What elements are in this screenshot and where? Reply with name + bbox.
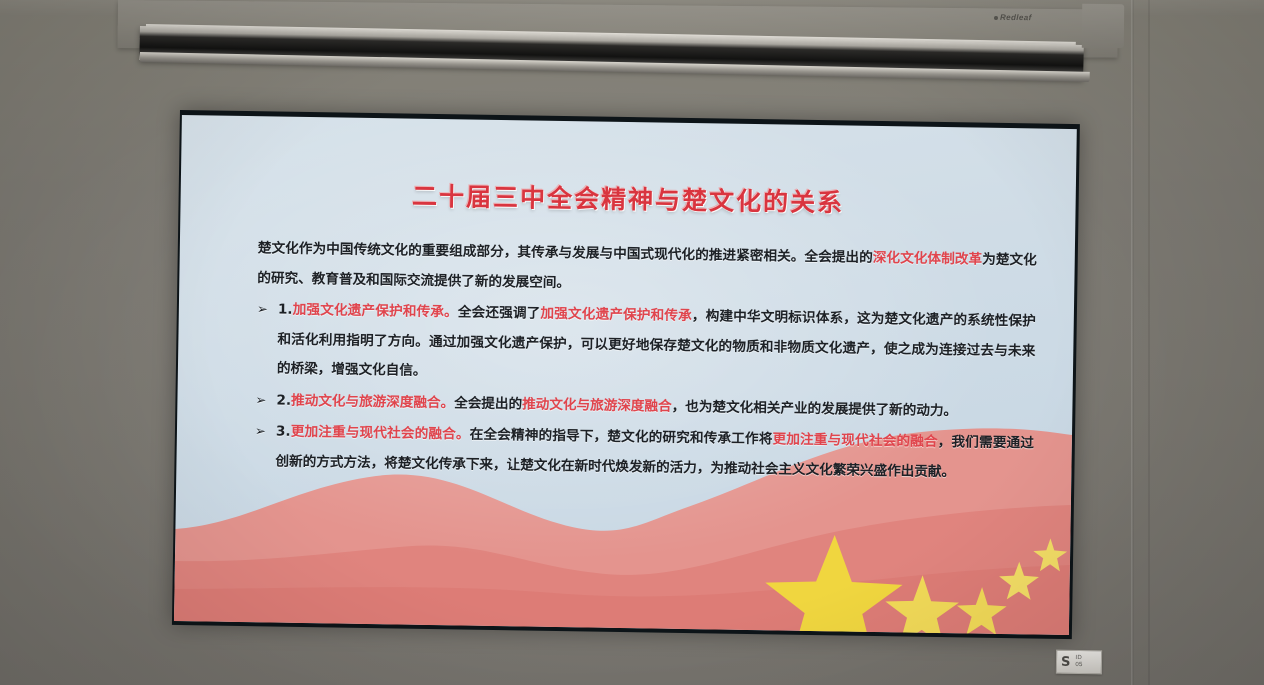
wall-label-plate: S ID 05 [1056,650,1102,675]
brand-dot-icon [994,16,998,20]
plate-logo-icon: S [1061,655,1071,668]
wall-corner-seam-secondary [1148,0,1150,685]
intro-paragraph: 楚文化作为中国传统文化的重要组成部分，其传承与发展与中国式现代化的推进紧密相关。… [257,234,1037,305]
bullet-2-segment-2: ，也为楚文化相关产业的发展提供了新的动力。 [672,398,958,418]
arrow-bullet-icon: ➢ [254,417,276,476]
bullet-2-segment-1: 全会提出的 [454,395,522,412]
plate-code-line1: ID [1075,655,1082,661]
bullet-1-text: 1.加强文化遗产保护和传承。全会还强调了加强文化遗产保护和传承，构建中华文明标识… [277,296,1036,396]
bullet-1-heading: 加强文化遗产保护和传承。 [292,302,458,321]
bullet-1-segment-1: 全会还强调了 [458,304,541,321]
presentation-slide: 二十届三中全会精神与楚文化的关系 楚文化作为中国传统文化的重要组成部分，其传承与… [174,115,1077,635]
arrow-bullet-icon: ➢ [255,386,276,416]
plate-code-line2: 05 [1075,662,1082,668]
arrow-bullet-icon: ➢ [256,295,278,384]
projector-screen-end-cap [1082,4,1124,48]
bullet-3-segment-1: 在全会精神的指导下，楚文化的研究和传承工作将 [470,427,773,448]
intro-segment-1: 楚文化作为中国传统文化的重要组成部分，其传承与发展与中国式现代化的推进紧密相关。… [258,240,873,266]
bullet-3-heading: 更加注重与现代社会的融合。 [290,424,469,443]
bullet-1-highlight: 加强文化遗产保护和传承 [540,306,692,324]
list-item: ➢ 1.加强文化遗产保护和传承。全会还强调了加强文化遗产保护和传承，构建中华文明… [256,295,1036,396]
bullet-2-highlight: 推动文化与旅游深度融合 [522,396,672,414]
wall-corner-seam [1131,0,1134,685]
slide-body: 楚文化作为中国传统文化的重要组成部分，其传承与发展与中国式现代化的推进紧密相关。… [254,234,1037,488]
intro-highlight: 深化文化体制改革 [873,250,983,268]
bullet-2-index: 2. [276,392,291,408]
bullet-1-index: 1. [278,302,293,318]
bullet-3-index: 3. [276,424,291,440]
projected-slide-area: 二十届三中全会精神与楚文化的关系 楚文化作为中国传统文化的重要组成部分，其传承与… [172,110,1080,639]
bullet-2-heading: 推动文化与旅游深度融合。 [291,392,454,411]
projector-brand-label: Redleaf [1000,13,1032,22]
list-item: ➢ 3.更加注重与现代社会的融合。在全会精神的指导下，楚文化的研究和传承工作将更… [254,417,1034,488]
bullet-3-text: 3.更加注重与现代社会的融合。在全会精神的指导下，楚文化的研究和传承工作将更加注… [275,418,1034,489]
slide-title: 二十届三中全会精神与楚文化的关系 [180,173,1075,223]
bullet-3-highlight: 更加注重与现代社会的融合 [772,431,937,450]
plate-code: ID 05 [1075,655,1082,669]
